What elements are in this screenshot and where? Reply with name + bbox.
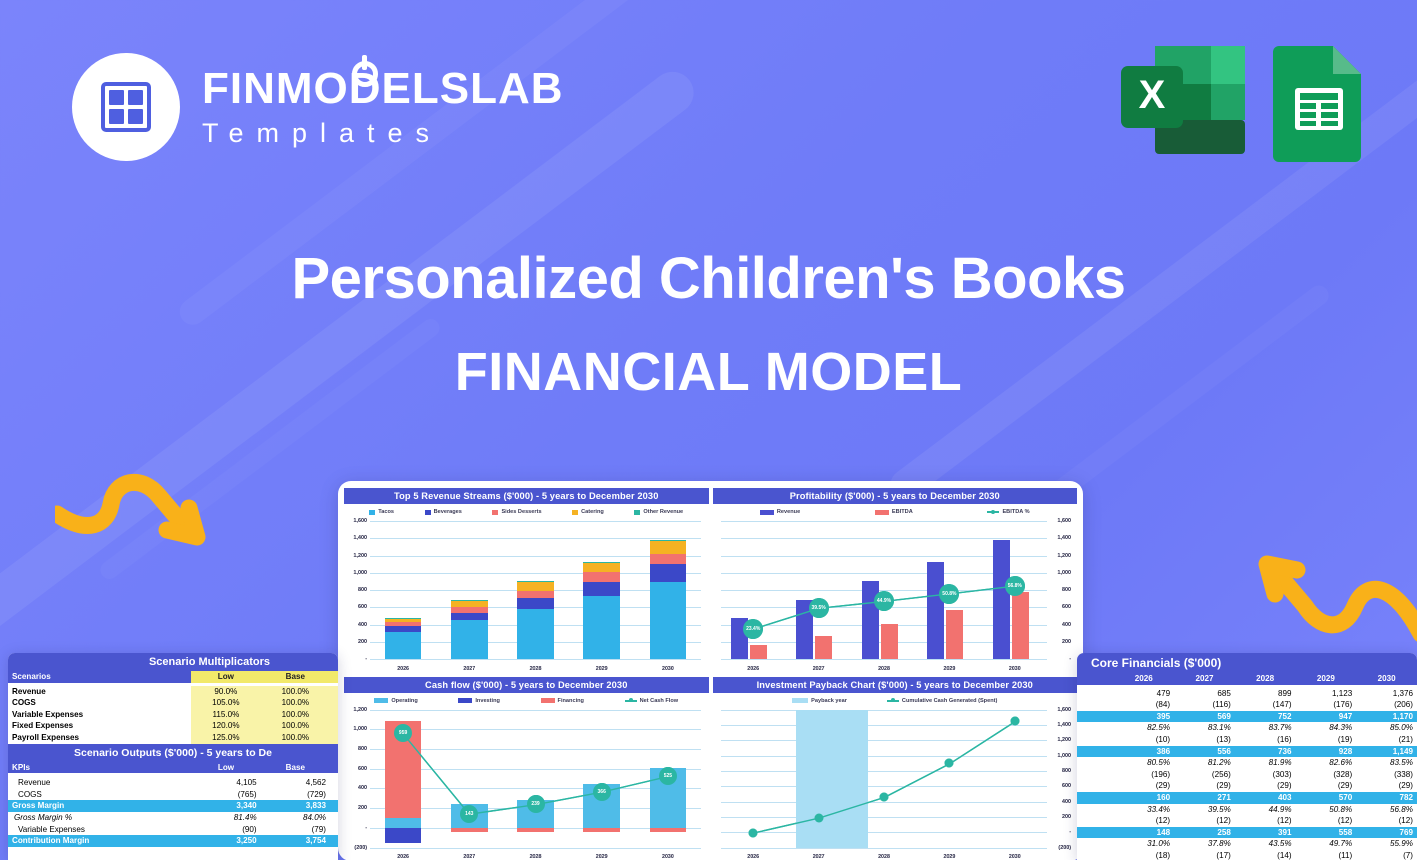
- table-header-row: 20262027202820292030: [1077, 673, 1417, 685]
- table-cell[interactable]: 685: [1174, 688, 1235, 700]
- table-row[interactable]: (84)(116)(147)(176)(206): [1077, 699, 1417, 711]
- table-row[interactable]: Contribution Margin3,2503,754: [8, 835, 338, 847]
- bar-segment: [451, 607, 487, 612]
- table-cell[interactable]: 570: [1296, 792, 1357, 804]
- legend-swatch: [792, 698, 808, 703]
- table-cell[interactable]: (18): [1113, 850, 1174, 860]
- scenario-outputs-table[interactable]: KPIs Low Base Revenue4,1054,562 COGS(765…: [8, 762, 338, 847]
- y-axis-tick: 1,000: [348, 570, 367, 576]
- chart-legend: Revenue EBITDA EBITDA %: [713, 504, 1078, 518]
- table-cell[interactable]: 37.8%: [1174, 838, 1235, 850]
- cell-base[interactable]: (729): [261, 789, 330, 801]
- core-financials-table[interactable]: 202620272028202920304796858991,1231,376(…: [1077, 673, 1417, 860]
- table-cell[interactable]: (11): [1296, 850, 1357, 860]
- x-axis-tick: 2026: [747, 854, 759, 860]
- table-cell[interactable]: 81.9%: [1235, 757, 1296, 769]
- table-cell[interactable]: 1,123: [1296, 688, 1357, 700]
- curved-arrow-left-icon: [1195, 548, 1417, 668]
- bar-segment: [650, 582, 686, 659]
- table-cell[interactable]: (13): [1174, 734, 1235, 746]
- bar-segment: [385, 618, 421, 622]
- legend-item: Operating: [374, 698, 417, 704]
- chart-title: Investment Payback Chart ($'000) - 5 yea…: [713, 677, 1078, 693]
- legend-item: EBITDA %: [987, 509, 1029, 515]
- table-cell[interactable]: 386: [1113, 746, 1174, 758]
- data-point-label: 56.8%: [1005, 576, 1025, 596]
- table-cell[interactable]: (303): [1235, 769, 1296, 781]
- table-row[interactable]: Revenue4,1054,562: [8, 777, 338, 789]
- table-row[interactable]: Fixed Expenses120.0%100.0%: [8, 720, 338, 732]
- brand-logo: FINMODELSLAB Templates: [72, 53, 564, 161]
- table-cell[interactable]: 928: [1296, 746, 1357, 758]
- table-cell[interactable]: (29): [1174, 780, 1235, 792]
- table-cell[interactable]: 395: [1113, 711, 1174, 723]
- gridline: [370, 659, 701, 660]
- data-point-label: 23.4%: [743, 619, 763, 639]
- data-point: [749, 828, 758, 837]
- table-row[interactable]: 3955697529471,170: [1077, 711, 1417, 723]
- table-cell[interactable]: 148: [1113, 827, 1174, 839]
- table-row[interactable]: (10)(13)(16)(19)(21): [1077, 734, 1417, 746]
- table-row[interactable]: 3865567369281,149: [1077, 746, 1417, 758]
- cell-base[interactable]: 84.0%: [261, 812, 330, 824]
- curved-arrow-right-icon: [55, 438, 225, 563]
- legend-item: Sides Desserts: [492, 509, 541, 515]
- legend-swatch: [987, 511, 999, 513]
- chart-legend: Tacos Beverages Sides Desserts Catering …: [344, 504, 709, 518]
- bar-segment: [517, 591, 553, 598]
- chart-legend: Payback year Cumulative Cash Generated (…: [713, 693, 1078, 707]
- table-cell[interactable]: 736: [1235, 746, 1296, 758]
- column-header: Low: [191, 762, 260, 774]
- row-label: Payroll Expenses: [8, 732, 191, 744]
- table-cell[interactable]: 85.0%: [1356, 722, 1417, 734]
- x-axis-tick: 2030: [1009, 854, 1021, 860]
- row-label: COGS: [8, 697, 191, 709]
- dashboard-container: Top 5 Revenue Streams ($'000) - 5 years …: [338, 481, 1083, 860]
- legend-label: Tacos: [378, 509, 394, 515]
- table-cell[interactable]: (29): [1235, 780, 1296, 792]
- legend-label: Net Cash Flow: [640, 698, 679, 704]
- gridline: [370, 521, 701, 522]
- sheet-section-title: Scenario Outputs ($'000) - 5 years to De: [8, 744, 338, 762]
- row-label: Gross Margin: [8, 800, 191, 812]
- table-row[interactable]: 31.0%37.8%43.5%49.7%55.9%: [1077, 838, 1417, 850]
- legend-item: Net Cash Flow: [625, 698, 679, 704]
- y-axis-tick: 400: [348, 622, 367, 628]
- brand-name-text: FINMODELSLAB: [202, 64, 564, 113]
- cell-low[interactable]: 3,250: [191, 835, 260, 847]
- cell-base[interactable]: (79): [261, 824, 330, 836]
- file-format-icons: X: [1117, 40, 1367, 162]
- y-axis-tick: 1,600: [348, 518, 367, 524]
- table-row[interactable]: Gross Margin %81.4%84.0%: [8, 812, 338, 824]
- bar-segment: [650, 564, 686, 582]
- legend-swatch: [541, 698, 555, 703]
- table-cell[interactable]: 479: [1113, 688, 1174, 700]
- table-cell[interactable]: 558: [1296, 827, 1357, 839]
- table-cell[interactable]: 83.7%: [1235, 722, 1296, 734]
- cell-base[interactable]: 100.0%: [261, 720, 330, 732]
- bar-segment: [385, 626, 421, 631]
- y-axis-tick: 800: [348, 587, 367, 593]
- table-cell[interactable]: 899: [1235, 688, 1296, 700]
- table-cell[interactable]: (29): [1296, 780, 1357, 792]
- table-cell[interactable]: (12): [1174, 815, 1235, 827]
- legend-label: Investing: [475, 698, 500, 704]
- power-stem-icon: [362, 55, 367, 70]
- x-axis-tick: 2030: [1009, 666, 1021, 672]
- x-axis-tick: 2030: [662, 666, 674, 672]
- google-sheets-icon: [1271, 40, 1367, 162]
- legend-item: Cumulative Cash Generated (Spent): [887, 698, 997, 704]
- table-row[interactable]: 160271403570782: [1077, 792, 1417, 804]
- table-cell[interactable]: 44.9%: [1235, 804, 1296, 816]
- table-cell[interactable]: (29): [1356, 780, 1417, 792]
- brand-name: FINMODELSLAB: [202, 67, 564, 111]
- gridline: [370, 538, 701, 539]
- x-axis-tick: 2027: [463, 666, 475, 672]
- chart-plot-area: (200)-2004006008001,0001,2001,4001,60020…: [717, 707, 1074, 860]
- table-cell[interactable]: 81.2%: [1174, 757, 1235, 769]
- chart-legend: Operating Investing Financing Net Cash F…: [344, 693, 709, 707]
- column-header: 2029: [1296, 673, 1357, 685]
- table-cell[interactable]: 769: [1356, 827, 1417, 839]
- column-header: 2030: [1356, 673, 1417, 685]
- y-axis-tick: 600: [348, 604, 367, 610]
- bar-segment: [451, 601, 487, 608]
- legend-swatch: [572, 510, 578, 515]
- x-axis-tick: 2029: [596, 854, 608, 860]
- table-cell[interactable]: (12): [1356, 815, 1417, 827]
- chart-title: Profitability ($'000) - 5 years to Decem…: [713, 488, 1078, 504]
- table-cell[interactable]: 271: [1174, 792, 1235, 804]
- bar-segment: [583, 562, 619, 563]
- column-header: KPIs: [8, 762, 191, 774]
- cell-low[interactable]: 120.0%: [191, 720, 260, 732]
- table-cell[interactable]: 50.8%: [1296, 804, 1357, 816]
- column-header: Scenarios: [8, 671, 191, 683]
- chart-title: Top 5 Revenue Streams ($'000) - 5 years …: [344, 488, 709, 504]
- cell-low[interactable]: 105.0%: [191, 697, 260, 709]
- cell-low[interactable]: 115.0%: [191, 709, 260, 721]
- table-cell[interactable]: 39.5%: [1174, 804, 1235, 816]
- column-header: Base: [261, 671, 330, 683]
- table-row[interactable]: Revenue90.0%100.0%: [8, 686, 338, 698]
- cell-base[interactable]: 100.0%: [261, 697, 330, 709]
- bar-segment: [650, 540, 686, 541]
- x-axis-tick: 2029: [943, 666, 955, 672]
- legend-label: EBITDA %: [1002, 509, 1029, 515]
- table-cell[interactable]: 1,376: [1356, 688, 1417, 700]
- legend-item: Investing: [458, 698, 500, 704]
- row-label: COGS: [8, 789, 191, 801]
- legend-label: Sides Desserts: [501, 509, 541, 515]
- table-cell[interactable]: 43.5%: [1235, 838, 1296, 850]
- table-cell[interactable]: (338): [1356, 769, 1417, 781]
- table-cell[interactable]: (16): [1235, 734, 1296, 746]
- brand-subtitle: Templates: [202, 120, 564, 147]
- bar-segment: [583, 562, 619, 572]
- x-axis-tick: 2029: [596, 666, 608, 672]
- chart-plot-area: -2004006008001,0001,2001,4001,6002026202…: [348, 518, 705, 671]
- legend-item: EBITDA: [875, 509, 913, 515]
- table-cell[interactable]: (19): [1296, 734, 1357, 746]
- table-row[interactable]: (29)(29)(29)(29)(29): [1077, 780, 1417, 792]
- table-cell[interactable]: 947: [1296, 711, 1357, 723]
- cell-low[interactable]: (765): [191, 789, 260, 801]
- cell-base[interactable]: 3,833: [261, 800, 330, 812]
- table-cell[interactable]: (29): [1113, 780, 1174, 792]
- bar-segment: [583, 582, 619, 596]
- grid-squares-icon: [101, 82, 151, 132]
- table-cell[interactable]: 82.5%: [1113, 722, 1174, 734]
- chart-panel-cash-flow: Cash flow ($'000) - 5 years to December …: [344, 677, 709, 860]
- bar-segment: [451, 613, 487, 621]
- table-cell[interactable]: (21): [1356, 734, 1417, 746]
- legend-item: Beverages: [425, 509, 462, 515]
- table-row[interactable]: COGS(765)(729): [8, 789, 338, 801]
- chart-plot-area: -2004006008001,0001,2001,4001,60023.4%39…: [717, 518, 1074, 671]
- cell-base[interactable]: 100.0%: [261, 709, 330, 721]
- table-row[interactable]: Variable Expenses(90)(79): [8, 824, 338, 836]
- table-cell[interactable]: 1,149: [1356, 746, 1417, 758]
- x-axis-tick: 2026: [747, 666, 759, 672]
- legend-item: Tacos: [369, 509, 394, 515]
- excel-icon: X: [1117, 40, 1249, 160]
- cell-low[interactable]: (90): [191, 824, 260, 836]
- bar-segment: [517, 582, 553, 591]
- table-cell[interactable]: (256): [1174, 769, 1235, 781]
- table-cell[interactable]: (206): [1356, 699, 1417, 711]
- table-row[interactable]: 33.4%39.5%44.9%50.8%56.8%: [1077, 804, 1417, 816]
- scenario-multiplicators-table[interactable]: Scenarios Low Base Revenue90.0%100.0% CO…: [8, 671, 338, 744]
- bar-segment: [583, 572, 619, 582]
- page-subtitle: FINANCIAL MODEL: [0, 341, 1417, 403]
- table-cell[interactable]: (116): [1174, 699, 1235, 711]
- legend-swatch: [875, 510, 889, 515]
- legend-item: Payback year: [792, 698, 847, 704]
- svg-text:X: X: [1139, 73, 1166, 117]
- bar-segment: [385, 622, 421, 626]
- legend-item: Catering: [572, 509, 604, 515]
- table-cell[interactable]: (176): [1296, 699, 1357, 711]
- chart-panel-investment-payback: Investment Payback Chart ($'000) - 5 yea…: [713, 677, 1078, 860]
- core-financials-sheet[interactable]: Core Financials ($'000) 2026202720282029…: [1077, 653, 1417, 860]
- page-title: Personalized Children's Books: [0, 245, 1417, 312]
- x-axis-tick: 2026: [397, 666, 409, 672]
- table-cell[interactable]: (147): [1235, 699, 1296, 711]
- y-axis-tick: 200: [348, 639, 367, 645]
- chart-panel-profitability: Profitability ($'000) - 5 years to Decem…: [713, 488, 1078, 673]
- table-cell[interactable]: 31.0%: [1113, 838, 1174, 850]
- bar-segment: [650, 554, 686, 564]
- table-cell[interactable]: (84): [1113, 699, 1174, 711]
- table-cell[interactable]: (10): [1113, 734, 1174, 746]
- row-label: Variable Expenses: [8, 824, 191, 836]
- table-cell[interactable]: 82.6%: [1296, 757, 1357, 769]
- table-cell[interactable]: 569: [1174, 711, 1235, 723]
- table-cell[interactable]: 56.8%: [1356, 804, 1417, 816]
- x-axis-tick: 2029: [943, 854, 955, 860]
- table-row[interactable]: 4796858991,1231,376: [1077, 688, 1417, 700]
- cell-base[interactable]: 100.0%: [261, 732, 330, 744]
- x-axis-tick: 2028: [530, 666, 542, 672]
- row-label: Revenue: [8, 777, 191, 789]
- legend-swatch: [887, 700, 899, 702]
- cell-low[interactable]: 90.0%: [191, 686, 260, 698]
- table-row[interactable]: 80.5%81.2%81.9%82.6%83.5%: [1077, 757, 1417, 769]
- data-point-label: 525: [659, 767, 677, 785]
- data-point: [945, 759, 954, 768]
- table-cell[interactable]: (7): [1356, 850, 1417, 860]
- table-cell[interactable]: 752: [1235, 711, 1296, 723]
- legend-label: Catering: [581, 509, 604, 515]
- cell-low[interactable]: 3,340: [191, 800, 260, 812]
- y-axis-tick: 1,400: [348, 535, 367, 541]
- column-header: 2027: [1174, 673, 1235, 685]
- legend-swatch: [625, 700, 637, 702]
- bar-segment: [451, 620, 487, 659]
- data-point-label: 366: [593, 783, 611, 801]
- table-cell[interactable]: 80.5%: [1113, 757, 1174, 769]
- legend-swatch: [425, 510, 431, 515]
- table-cell[interactable]: 160: [1113, 792, 1174, 804]
- cell-base[interactable]: 4,562: [261, 777, 330, 789]
- sheet-title: Scenario Multiplicators: [8, 653, 338, 671]
- table-row[interactable]: (18)(17)(14)(11)(7): [1077, 850, 1417, 860]
- column-header: Base: [261, 762, 330, 774]
- column-header: 2026: [1113, 673, 1174, 685]
- table-row[interactable]: 148258391558769: [1077, 827, 1417, 839]
- table-cell[interactable]: 33.4%: [1113, 804, 1174, 816]
- legend-swatch: [369, 510, 375, 515]
- x-axis-tick: 2028: [878, 666, 890, 672]
- legend-item: Financing: [541, 698, 584, 704]
- data-point-label: 44.9%: [874, 591, 894, 611]
- table-row[interactable]: 82.5%83.1%83.7%84.3%85.0%: [1077, 722, 1417, 734]
- legend-swatch: [760, 510, 774, 515]
- table-cell[interactable]: (328): [1296, 769, 1357, 781]
- table-row[interactable]: Gross Margin3,3403,833: [8, 800, 338, 812]
- table-cell[interactable]: (12): [1235, 815, 1296, 827]
- table-row[interactable]: (196)(256)(303)(328)(338): [1077, 769, 1417, 781]
- chart-panel-revenue-streams: Top 5 Revenue Streams ($'000) - 5 years …: [344, 488, 709, 673]
- x-axis-tick: 2027: [813, 854, 825, 860]
- table-cell[interactable]: 556: [1174, 746, 1235, 758]
- table-cell[interactable]: 83.1%: [1174, 722, 1235, 734]
- sheet-title: Core Financials ($'000): [1077, 653, 1417, 673]
- table-cell[interactable]: 55.9%: [1356, 838, 1417, 850]
- cell-base[interactable]: 3,754: [261, 835, 330, 847]
- legend-item: Revenue: [760, 509, 800, 515]
- legend-swatch: [458, 698, 472, 703]
- data-point-label: 239: [527, 795, 545, 813]
- cell-low[interactable]: 125.0%: [191, 732, 260, 744]
- row-label: Revenue: [8, 686, 191, 698]
- legend-label: Financing: [558, 698, 584, 704]
- row-label: Gross Margin %: [8, 812, 191, 824]
- table-cell[interactable]: (17): [1174, 850, 1235, 860]
- data-point-label: 39.5%: [809, 598, 829, 618]
- legend-label: Beverages: [434, 509, 462, 515]
- data-point: [1010, 717, 1019, 726]
- cell-low[interactable]: 4,105: [191, 777, 260, 789]
- table-row[interactable]: COGS105.0%100.0%: [8, 697, 338, 709]
- legend-swatch: [634, 510, 640, 515]
- x-axis-tick: 2030: [662, 854, 674, 860]
- x-axis-tick: 2028: [530, 854, 542, 860]
- legend-label: EBITDA: [892, 509, 913, 515]
- data-point: [880, 792, 889, 801]
- y-axis-tick: -: [348, 656, 367, 662]
- data-point: [814, 813, 823, 822]
- legend-label: Payback year: [811, 698, 847, 704]
- data-point-label: 143: [460, 805, 478, 823]
- column-header: 2028: [1235, 673, 1296, 685]
- legend-item: Other Revenue: [634, 509, 683, 515]
- data-point-label: 959: [394, 724, 412, 742]
- column-header: [330, 671, 338, 683]
- table-row[interactable]: Payroll Expenses125.0%100.0%: [8, 732, 338, 744]
- table-header-row: KPIs Low Base: [8, 762, 338, 774]
- bar-segment: [517, 609, 553, 659]
- table-row[interactable]: (12)(12)(12)(12)(12): [1077, 815, 1417, 827]
- table-cell[interactable]: 403: [1235, 792, 1296, 804]
- legend-label: Other Revenue: [643, 509, 683, 515]
- line-series: [717, 707, 1074, 860]
- legend-label: Revenue: [777, 509, 800, 515]
- table-cell[interactable]: (196): [1113, 769, 1174, 781]
- table-cell[interactable]: (12): [1113, 815, 1174, 827]
- legend-label: Cumulative Cash Generated (Spent): [902, 698, 997, 704]
- cell-low[interactable]: 81.4%: [191, 812, 260, 824]
- row-label: Fixed Expenses: [8, 720, 191, 732]
- x-axis-tick: 2027: [463, 854, 475, 860]
- column-header: Low: [191, 671, 260, 683]
- bar-segment: [385, 632, 421, 659]
- x-axis-tick: 2027: [813, 666, 825, 672]
- x-axis-tick: 2026: [397, 854, 409, 860]
- table-cell[interactable]: 391: [1235, 827, 1296, 839]
- table-cell[interactable]: 258: [1174, 827, 1235, 839]
- bar-segment: [650, 541, 686, 554]
- table-cell[interactable]: 1,170: [1356, 711, 1417, 723]
- bar-segment: [583, 596, 619, 659]
- scenario-multiplicators-sheet[interactable]: Scenario Multiplicators Scenarios Low Ba…: [8, 653, 338, 860]
- table-cell[interactable]: 782: [1356, 792, 1417, 804]
- logo-badge: [72, 53, 180, 161]
- cell-base[interactable]: 100.0%: [261, 686, 330, 698]
- x-axis-tick: 2028: [878, 854, 890, 860]
- table-header-row: Scenarios Low Base: [8, 671, 338, 683]
- chart-plot-area: (200)-2004006008001,0001,200959143239366…: [348, 707, 705, 860]
- table-cell[interactable]: 84.3%: [1296, 722, 1357, 734]
- table-cell[interactable]: 49.7%: [1296, 838, 1357, 850]
- row-label: Contribution Margin: [8, 835, 191, 847]
- chart-title: Cash flow ($'000) - 5 years to December …: [344, 677, 709, 693]
- table-cell[interactable]: (12): [1296, 815, 1357, 827]
- bar-segment: [517, 598, 553, 609]
- table-cell[interactable]: 83.5%: [1356, 757, 1417, 769]
- data-point-label: 50.8%: [939, 584, 959, 604]
- legend-label: Operating: [391, 698, 417, 704]
- y-axis-tick: 1,200: [348, 553, 367, 559]
- table-row[interactable]: Variable Expenses115.0%100.0%: [8, 709, 338, 721]
- row-label: Variable Expenses: [8, 709, 191, 721]
- legend-swatch: [374, 698, 388, 703]
- table-cell[interactable]: (14): [1235, 850, 1296, 860]
